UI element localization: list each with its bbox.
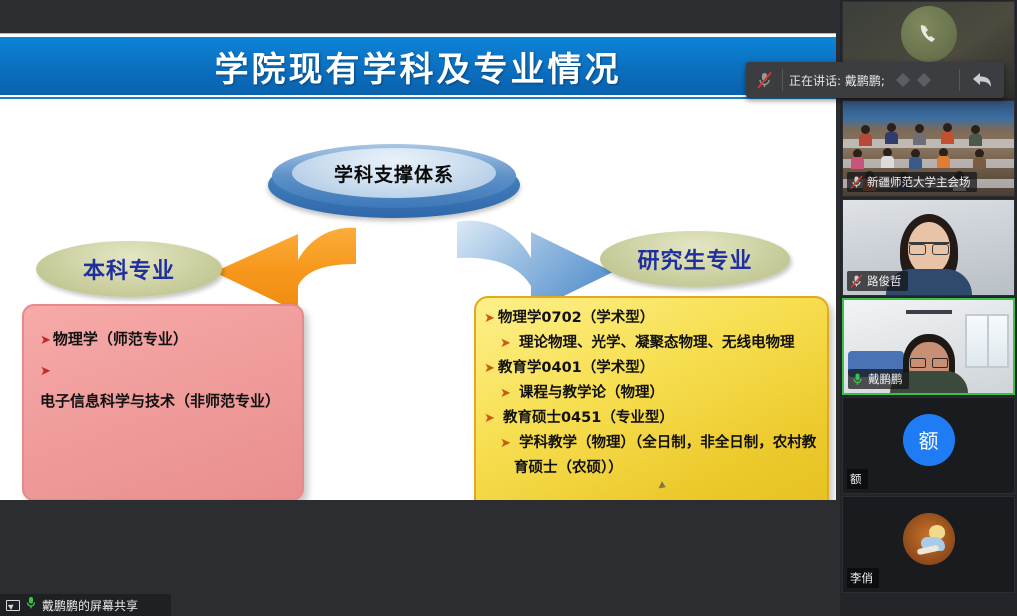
mic-muted-icon bbox=[850, 274, 863, 289]
arrow-bullet-icon: ➤ bbox=[40, 333, 51, 348]
hub-ellipse: 学科支撑体系 bbox=[268, 142, 520, 220]
phone-avatar-icon bbox=[901, 6, 957, 62]
arrow-bullet-icon: ➤ bbox=[500, 436, 511, 451]
grad-pill: 研究生专业 bbox=[600, 231, 790, 287]
undergrad-item-0: 物理学（师范专业） bbox=[53, 330, 188, 348]
diamond-icon bbox=[895, 72, 911, 88]
participant-name: 路俊哲 bbox=[867, 273, 902, 289]
page-title: 学院现有学科及专业情况 bbox=[215, 42, 622, 91]
participant-name: 新疆师范大学主会场 bbox=[867, 174, 971, 190]
presentation-slide: 学院现有学科及专业情况 bbox=[0, 33, 836, 500]
screen-share-status-bar: 戴鹏鹏的屏幕共享 bbox=[0, 594, 171, 616]
participant-tile[interactable]: 额 额 bbox=[842, 397, 1015, 494]
undergrad-pill: 本科专业 bbox=[36, 241, 222, 297]
undergrad-item-1: 电子信息科学与技术（非师范专业） bbox=[40, 392, 280, 410]
list-item: ➤物理学0702（学术型） bbox=[484, 306, 817, 331]
list-item: ➤ 理论物理、光学、凝聚态物理、无线电物理 bbox=[484, 331, 817, 356]
arrow-bullet-icon: ➤ bbox=[500, 336, 511, 351]
undergrad-pill-label: 本科专业 bbox=[83, 253, 175, 285]
mic-on-icon bbox=[25, 596, 37, 615]
back-arrow-icon[interactable] bbox=[960, 71, 1004, 89]
participant-tile[interactable]: 李俏 bbox=[842, 496, 1015, 593]
participant-video: 额 bbox=[843, 398, 1014, 493]
list-item: ➤ 课程与教学论（物理） bbox=[484, 381, 817, 406]
slide-title-band: 学院现有学科及专业情况 bbox=[0, 35, 836, 97]
hub-disc-top: 学科支撑体系 bbox=[292, 148, 496, 198]
participant-name-bar: 新疆师范大学主会场 bbox=[847, 172, 977, 192]
diamond-icon bbox=[916, 72, 932, 88]
list-item: ➤ 教育硕士0451（专业型） bbox=[484, 406, 817, 431]
grad-box: ➤物理学0702（学术型） ➤ 理论物理、光学、凝聚态物理、无线电物理 ➤教育学… bbox=[474, 296, 829, 500]
grad-item-3: 课程与教学论（物理） bbox=[519, 385, 664, 401]
hub-label: 学科支撑体系 bbox=[334, 160, 454, 187]
participant-tile[interactable]: 路俊哲 bbox=[842, 199, 1015, 296]
toolbar-diamond-group[interactable] bbox=[891, 72, 959, 88]
grad-pill-label: 研究生专业 bbox=[637, 243, 752, 275]
screen-share-icon bbox=[6, 600, 20, 611]
participant-name-bar: 李俏 bbox=[847, 568, 879, 588]
participant-name: 额 bbox=[850, 471, 862, 487]
grad-item-0: 物理学0702（学术型） bbox=[498, 310, 654, 326]
mic-muted-icon bbox=[850, 175, 863, 190]
undergrad-box: ➤物理学（师范专业） ➤电子信息科学与技术（非师范专业） bbox=[22, 304, 304, 500]
grad-item-5: 学科教学（物理）（全日制，非全日制，农村教育硕士（农硕）） bbox=[514, 435, 816, 476]
app-stage: 学院现有学科及专业情况 bbox=[0, 0, 1017, 616]
meeting-floating-toolbar[interactable]: 正在讲话: 戴鹏鹏; bbox=[746, 62, 1004, 98]
list-item: ➤物理学（师范专业） bbox=[40, 324, 288, 355]
shared-screen-area[interactable]: 学院现有学科及专业情况 bbox=[0, 0, 840, 616]
participant-tile-active-speaker[interactable]: 戴鹏鹏 bbox=[842, 298, 1015, 395]
speaking-status-label: 正在讲话: 戴鹏鹏; bbox=[783, 72, 891, 89]
participant-name: 戴鹏鹏 bbox=[868, 371, 903, 387]
participant-name-bar: 路俊哲 bbox=[847, 271, 908, 291]
grad-item-1: 理论物理、光学、凝聚态物理、无线电物理 bbox=[519, 335, 795, 351]
list-item: ➤教育学0401（学术型） bbox=[484, 356, 817, 381]
participant-name: 李俏 bbox=[850, 570, 873, 586]
arrow-bullet-icon: ➤ bbox=[484, 361, 495, 376]
avatar: 额 bbox=[903, 414, 955, 466]
arrow-bullet-icon: ➤ bbox=[500, 386, 511, 401]
avatar bbox=[903, 513, 955, 565]
share-status-label: 戴鹏鹏的屏幕共享 bbox=[42, 597, 138, 614]
grad-item-2: 教育学0401（学术型） bbox=[498, 360, 654, 376]
grad-item-4: 教育硕士0451（专业型） bbox=[503, 410, 674, 426]
list-item: ➤ 学科教学（物理）（全日制，非全日制，农村教育硕士（农硕）） bbox=[484, 431, 817, 481]
participant-name-bar: 戴鹏鹏 bbox=[848, 369, 909, 389]
arrow-bullet-icon: ➤ bbox=[40, 364, 51, 379]
mic-muted-icon[interactable] bbox=[746, 71, 782, 90]
participant-name-bar: 额 bbox=[847, 469, 868, 489]
mic-on-icon bbox=[851, 372, 864, 387]
list-item: ➤电子信息科学与技术（非师范专业） bbox=[40, 355, 288, 417]
arrow-bullet-icon: ➤ bbox=[484, 411, 495, 426]
arrow-bullet-icon: ➤ bbox=[484, 311, 495, 326]
participant-tile[interactable]: 新疆师范大学主会场 bbox=[842, 100, 1015, 197]
